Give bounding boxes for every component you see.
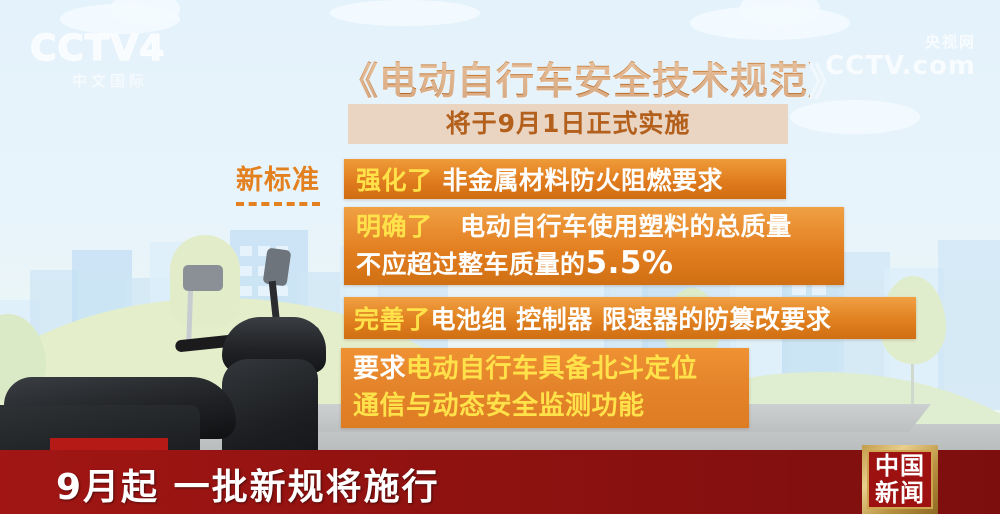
program-logo: 中国 新闻 — [862, 445, 938, 514]
window-shape — [792, 284, 806, 295]
point-1-text: 非金属材料防火阻燃要求 — [443, 161, 724, 197]
program-logo-line-1: 中国 — [875, 453, 925, 480]
point-3-lead: 完善了 — [354, 300, 431, 336]
channel-logo-sub: 中文国际 — [30, 70, 190, 91]
building-shape — [938, 240, 1000, 410]
point-4-line-1: 要求电动自行车具备北斗定位 — [353, 351, 698, 388]
point-4-lead: 要求 — [353, 354, 406, 384]
point-2-line-2: 不应超过整车质量的5.5% — [356, 245, 674, 283]
point-bar-2: 明确了 电动自行车使用塑料的总质量 不应超过整车质量的5.5% — [344, 207, 844, 285]
point-2-text-1: 电动自行车使用塑料的总质量 — [460, 212, 792, 241]
channel-logo: CCTV4 中文国际 — [30, 30, 190, 92]
point-bar-4: 要求电动自行车具备北斗定位 通信与动态安全监测功能 — [341, 348, 749, 428]
website-watermark: 央视网 CCTV.com — [825, 30, 976, 78]
channel-logo-number: 4 — [139, 28, 165, 69]
point-3-text: 电池组 控制器 限速器的防篡改要求 — [431, 300, 832, 336]
cloud-shape — [330, 0, 480, 26]
point-1-lead: 强化了 — [356, 161, 433, 197]
point-4-text-2: 通信与动态安全监测功能 — [353, 388, 645, 425]
point-2-value: 5.5% — [586, 245, 674, 281]
program-logo-inner: 中国 新闻 — [867, 450, 933, 509]
page-title: 《电动自行车安全技术规范》 — [340, 50, 810, 105]
point-4-text-1: 电动自行车具备北斗定位 — [406, 354, 698, 384]
channel-logo-text: CCTV — [30, 28, 139, 69]
cloud-shape — [790, 100, 920, 134]
point-2-lead: 明确了 — [356, 212, 433, 241]
point-bar-3: 完善了 电池组 控制器 限速器的防篡改要求 — [344, 297, 916, 339]
watermark-en-text: CCTV.com — [825, 51, 976, 81]
new-standard-tag: 新标准 — [236, 158, 320, 206]
scooter-mirror-right — [263, 248, 292, 287]
point-2-line-1: 明确了 电动自行车使用塑料的总质量 — [356, 209, 792, 245]
lower-third-headline: 9月起 一批新规将施行 — [56, 458, 440, 510]
broadcast-frame: CCTV4 中文国际 央视网 CCTV.com 《电动自行车安全技术规范》 将于… — [0, 0, 1000, 514]
subtitle-text: 将于9月1日正式实施 — [348, 104, 788, 144]
channel-logo-main: CCTV4 — [30, 30, 190, 68]
point-bar-1: 强化了 非金属材料防火阻燃要求 — [344, 159, 786, 199]
program-logo-line-2: 新闻 — [875, 480, 925, 507]
point-2-text-2: 不应超过整车质量的 — [356, 250, 586, 279]
subtitle-band: 将于9月1日正式实施 — [348, 104, 788, 144]
window-shape — [812, 284, 826, 295]
scooter-mirror-left — [183, 265, 223, 291]
